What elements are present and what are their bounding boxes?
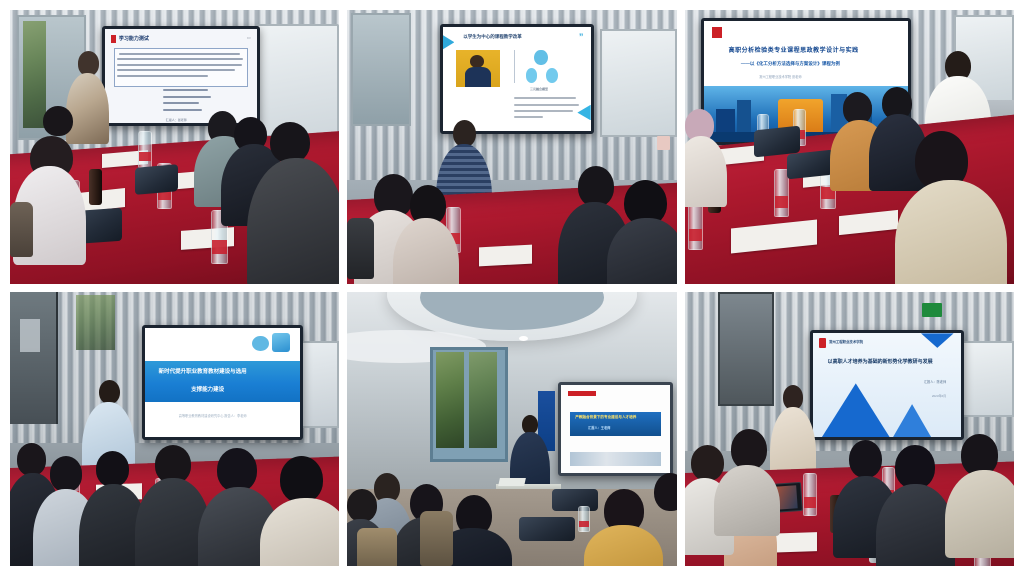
photo-collage: 学习能力测试 ▭ 汇报人：张老师 — [0, 0, 1024, 576]
slide-header-accent — [111, 35, 116, 43]
slide-footer-text: 汇报人：张老师 — [166, 118, 187, 122]
collage-panel-top-right: 高职分析检验类专业课程思政教学设计与实践 ——以《化工分析方法选择与方案设计》课… — [685, 10, 1014, 284]
attendee-head — [731, 429, 767, 470]
photo-seminar-female-presenter: 学习能力测试 ▭ 汇报人：张老师 — [10, 10, 339, 284]
skyline-building — [716, 109, 734, 132]
wooden-chair — [357, 528, 397, 566]
attendee-head — [43, 106, 73, 136]
slide-mountain-large — [822, 383, 890, 437]
slide-surface: 学习能力测试 ▭ 汇报人：张老师 — [105, 29, 256, 122]
door — [10, 292, 58, 424]
water-bottle — [138, 131, 151, 169]
slide-title: 高职分析检验类专业课程思政教学设计与实践 — [729, 45, 859, 54]
slide-body-line — [514, 104, 579, 106]
slide-photo-head — [470, 55, 484, 68]
slide-diagram-node — [546, 68, 558, 83]
slide-bullet-line — [163, 89, 208, 91]
slide-byline: 汇报人：陈老师 — [924, 379, 946, 384]
door-sign — [20, 319, 40, 352]
slide-body-line — [514, 97, 576, 99]
slide-logo — [712, 27, 722, 38]
window-glass — [436, 352, 464, 448]
presentation-screen: 新时代提升职业教育教材建设与选用 支撑能力建设 高等职业教育教材建设研究中心 报… — [142, 325, 303, 441]
water-bottle — [688, 202, 703, 251]
paper-sheet — [479, 244, 532, 266]
bag — [552, 489, 598, 511]
attendee-head — [280, 456, 323, 503]
slide-title: 产教融合背景下的专业建设与人才培养 — [575, 415, 636, 420]
laptop — [498, 478, 526, 486]
attendee-head — [347, 489, 377, 522]
wooden-chair — [420, 511, 453, 566]
slide-photo — [456, 50, 500, 87]
attendee-head — [96, 451, 129, 487]
window-frame — [351, 13, 411, 127]
whiteboard — [256, 24, 339, 138]
presenter-body — [66, 73, 109, 144]
window-glass — [23, 21, 46, 128]
slide-footer-band — [570, 452, 661, 466]
slide-accent-triangle — [443, 35, 455, 50]
presentation-screen: 常州工程职业技术学院 以高职人才培养为基础的新形势化学教研与发展 汇报人：陈老师… — [810, 330, 964, 440]
slide-accent-bar — [568, 391, 596, 396]
presentation-screen: 以学生为中心的课程教学改革 ” 三元融合模型 — [440, 24, 594, 134]
slide-byline: 常州工程职业技术学院 张老师 — [759, 74, 801, 79]
slide-subtitle: 汇报人：王老师 — [588, 425, 610, 430]
photo-seminar-mountain-slide: 常州工程职业技术学院 以高职人才培养为基础的新形势化学教研与发展 汇报人：陈老师… — [685, 292, 1014, 566]
slide-bullet-line — [163, 102, 199, 104]
slide-logo-mark — [819, 338, 826, 348]
photo-seminar-diagram-slide: 以学生为中心的课程教学改革 ” 三元融合模型 — [347, 10, 676, 284]
slide-diagram-axis — [514, 50, 515, 83]
photo-lecture-hall: 产教融合背景下的专业建设与人才培养 汇报人：王老师 — [347, 292, 676, 566]
bag — [519, 517, 575, 542]
window-glass — [469, 352, 497, 448]
attendee-head — [50, 456, 83, 492]
slide-body-line — [514, 110, 573, 112]
slide-diagram-label: 三元融合模型 — [530, 87, 548, 91]
water-bottle — [803, 473, 817, 516]
slide-decor-icon — [272, 333, 291, 352]
presenter-head — [453, 120, 476, 147]
slide-body-line — [514, 116, 544, 118]
photo-seminar-title-slide: 高职分析检验类专业课程思政教学设计与实践 ——以《化工分析方法选择与方案设计》课… — [685, 10, 1014, 284]
collage-panel-bottom-right: 常州工程职业技术学院 以高职人才培养为基础的新形势化学教研与发展 汇报人：陈老师… — [685, 292, 1014, 566]
collage-panel-bottom-left: 新时代提升职业教育教材建设与选用 支撑能力建设 高等职业教育教材建设研究中心 报… — [10, 292, 339, 566]
slide-mountain-small — [893, 404, 932, 437]
slide-corner-mark: ▭ — [247, 35, 251, 40]
attendee-head — [217, 448, 257, 492]
thermos-cup — [89, 169, 102, 205]
skyline-building — [737, 100, 751, 132]
slide-subtitle: ——以《化工分析方法选择与方案设计》课程为例 — [741, 61, 840, 67]
attendee-head — [895, 445, 935, 489]
slide-diagram-node — [526, 68, 538, 83]
whiteboard — [600, 29, 676, 137]
slide-body-line — [117, 64, 241, 66]
slide-logo-text: 常州工程职业技术学院 — [829, 339, 863, 344]
slide-header-text: 学习能力测试 — [119, 35, 149, 42]
presenter-head — [99, 380, 120, 405]
window-glass — [76, 295, 116, 350]
collage-panel-bottom-center: 产教融合背景下的专业建设与人才培养 汇报人：王老师 — [347, 292, 676, 566]
slide-surface: 常州工程职业技术学院 以高职人才培养为基础的新形势化学教研与发展 汇报人：陈老师… — [813, 333, 961, 437]
slide-title: 以高职人才培养为基础的新形势化学教研与发展 — [828, 358, 933, 365]
slide-decor-triangle — [921, 333, 954, 348]
attendee-head — [691, 445, 724, 481]
slide-bullet-line — [163, 109, 202, 111]
slide-header-text: 以学生为中心的课程教学改革 — [463, 34, 522, 40]
slide-title-line2: 支撑能力建设 — [191, 385, 224, 393]
attendee-body — [714, 465, 780, 536]
slide-banner: 产教融合背景下的专业建设与人才培养 汇报人：王老师 — [570, 412, 661, 437]
slide-diagram-node — [534, 50, 547, 66]
slide-body-line — [117, 75, 208, 77]
slide-photo-body — [465, 67, 491, 87]
slide-surface: 以学生为中心的课程教学改革 ” 三元融合模型 — [443, 27, 591, 131]
slide-surface: 新时代提升职业教育教材建设与选用 支撑能力建设 高等职业教育教材建设研究中心 报… — [145, 328, 300, 438]
attendee-head — [17, 443, 47, 476]
presentation-screen: 学习能力测试 ▭ 汇报人：张老师 — [102, 26, 259, 125]
slide-body-line — [119, 53, 240, 55]
slide-byline: 高等职业教育教材建设研究中心 报告人：李老师 — [179, 413, 247, 418]
slide-surface: 产教融合背景下的专业建设与人才培养 汇报人：王老师 — [561, 385, 670, 473]
slide-decor-icon — [252, 336, 269, 351]
office-chair — [347, 218, 373, 278]
water-bottle — [578, 506, 590, 533]
laptop-bag — [135, 164, 178, 195]
slide-title-line1: 新时代提升职业教育教材建设与选用 — [159, 367, 247, 375]
collage-panel-top-center: 以学生为中心的课程教学改革 ” 三元融合模型 — [347, 10, 676, 284]
paper-cup — [657, 136, 670, 150]
slide-accent-triangle — [577, 105, 590, 121]
slide-bullet-line — [163, 96, 211, 98]
attendee-head — [849, 440, 882, 478]
slide-banner: 新时代提升职业教育教材建设与选用 支撑能力建设 — [145, 361, 300, 403]
door — [718, 292, 775, 406]
slide-quote-mark: ” — [579, 32, 584, 42]
slide-date: 2023年6月 — [932, 394, 946, 398]
exit-sign — [922, 303, 942, 317]
photo-seminar-banner-slide: 新时代提升职业教育教材建设与选用 支撑能力建设 高等职业教育教材建设研究中心 报… — [10, 292, 339, 566]
collage-panel-top-left: 学习能力测试 ▭ 汇报人：张老师 — [10, 10, 339, 284]
slide-surface: 高职分析检验类专业课程思政教学设计与实践 ——以《化工分析方法选择与方案设计》课… — [704, 21, 908, 142]
office-chair — [10, 202, 33, 257]
presentation-screen: 产教融合背景下的专业建设与人才培养 汇报人：王老师 — [558, 382, 673, 476]
slide-body-line — [117, 58, 243, 60]
